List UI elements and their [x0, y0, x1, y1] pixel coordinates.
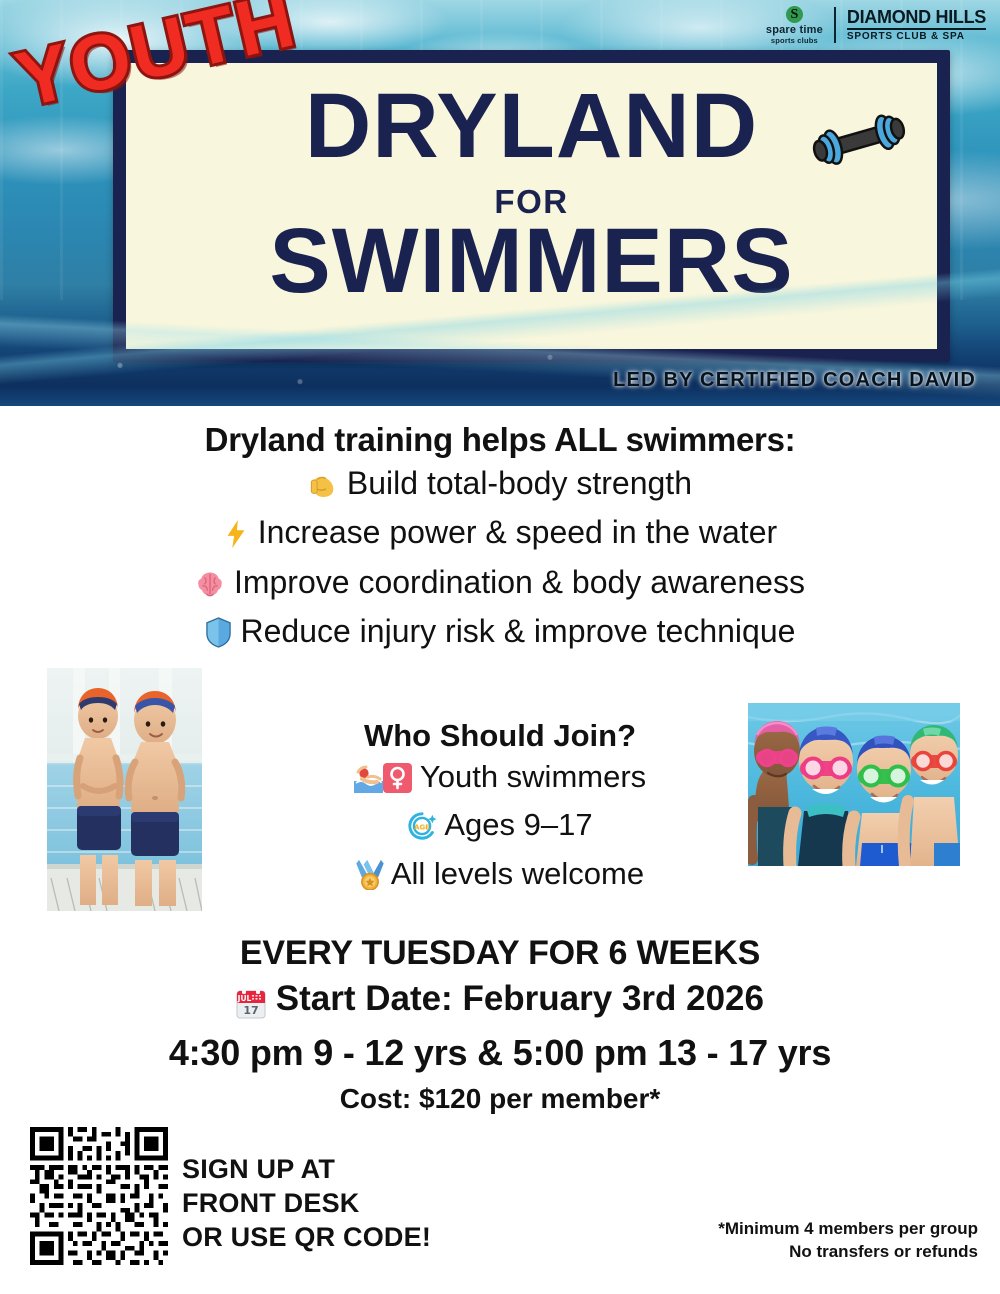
spare-time-name: spare time — [766, 25, 823, 36]
diamond-hills-sub: SPORTS CLUB & SPA — [847, 32, 986, 42]
who-item: Youth swimmers — [210, 756, 790, 804]
hero-banner: spare time sports clubs DIAMOND HILLS SP… — [0, 0, 1000, 406]
sign-title-swimmers: SWIMMERS — [126, 218, 937, 305]
brain-icon — [195, 567, 225, 611]
svg-text:17: 17 — [243, 1004, 258, 1017]
diamond-hills-rule — [847, 28, 986, 30]
benefits-heading: Dryland training helps ALL swimmers: — [0, 418, 1000, 462]
who-should-join-section: Who Should Join? Youth swimmers — [210, 716, 790, 901]
who-item-text: Youth swimmers — [420, 759, 646, 794]
age-badge-icon: AGE — [407, 810, 437, 852]
benefits-section: Dryland training helps ALL swimmers: Bui… — [0, 418, 1000, 660]
signup-line-1: SIGN UP AT — [182, 1152, 431, 1186]
schedule-frequency: EVERY TUESDAY FOR 6 WEEKS — [0, 932, 1000, 976]
svg-text:AGE: AGE — [415, 824, 431, 832]
benefit-item: Increase power & speed in the water — [0, 511, 1000, 561]
club-logos: spare time sports clubs DIAMOND HILLS SP… — [766, 6, 986, 45]
signup-instructions: SIGN UP AT FRONT DESK OR USE QR CODE! — [182, 1152, 431, 1254]
fineprint-line-2: No transfers or refunds — [718, 1241, 978, 1264]
schedule-start-date-row: JUL 17 Start Date: February 3rd 2026 — [0, 976, 1000, 1028]
benefit-text: Reduce injury risk & improve technique — [240, 613, 795, 649]
logo-divider — [834, 7, 836, 43]
benefit-text: Improve coordination & body awareness — [234, 564, 805, 600]
title-sign: DRYLAND FOR SWIMMERS — [113, 50, 950, 362]
qr-code[interactable] — [30, 1127, 168, 1265]
shield-icon — [205, 616, 232, 660]
svg-text:JUL: JUL — [237, 994, 252, 1003]
benefit-text: Build total-body strength — [347, 465, 692, 501]
benefit-text: Increase power & speed in the water — [258, 514, 777, 550]
who-item-text: All levels welcome — [391, 856, 644, 891]
signup-line-3: OR USE QR CODE! — [182, 1220, 431, 1254]
spare-time-mark-icon — [786, 6, 803, 23]
who-item: AGE Ages 9–17 — [210, 804, 790, 852]
signup-line-2: FRONT DESK — [182, 1186, 431, 1220]
schedule-cost: Cost: $120 per member* — [0, 1078, 1000, 1120]
benefit-item: Reduce injury risk & improve technique — [0, 610, 1000, 660]
fineprint: *Minimum 4 members per group No transfer… — [718, 1218, 978, 1264]
schedule-start-date: Start Date: February 3rd 2026 — [276, 979, 764, 1018]
spare-time-sub: sports clubs — [771, 37, 818, 45]
benefit-item: Improve coordination & body awareness — [0, 561, 1000, 611]
schedule-times: 4:30 pm 9 - 12 yrs & 5:00 pm 13 - 17 yrs — [0, 1027, 1000, 1078]
schedule-section: EVERY TUESDAY FOR 6 WEEKS JUL 17 Start D… — [0, 932, 1000, 1120]
who-should-join-heading: Who Should Join? — [210, 716, 790, 756]
spare-time-logo: spare time sports clubs — [766, 6, 823, 45]
diamond-hills-logo: DIAMOND HILLS SPORTS CLUB & SPA — [847, 8, 986, 42]
benefit-item: Build total-body strength — [0, 462, 1000, 512]
medal-icon — [356, 859, 384, 901]
lightning-bolt-icon — [223, 517, 249, 561]
led-by-coach: LED BY CERTIFIED COACH DAVID — [613, 370, 976, 390]
dumbbell-icon — [806, 100, 910, 185]
swimmer-female-icon — [354, 762, 412, 804]
calendar-icon: JUL 17 — [236, 982, 266, 1028]
diamond-hills-name: DIAMOND HILLS — [847, 8, 986, 26]
flexed-biceps-icon — [308, 468, 338, 512]
who-item-text: Ages 9–17 — [444, 807, 592, 842]
who-item: All levels welcome — [210, 853, 790, 901]
fineprint-line-1: *Minimum 4 members per group — [718, 1218, 978, 1241]
photo-two-boys-poolside — [47, 668, 202, 911]
